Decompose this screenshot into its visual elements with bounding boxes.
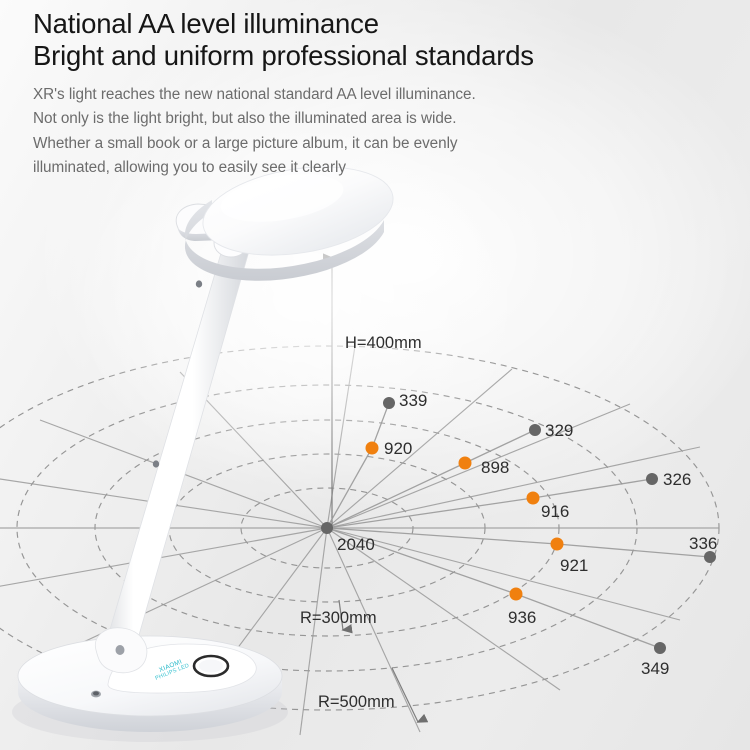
- data-label-336: 336: [689, 534, 717, 553]
- data-point-center[interactable]: [321, 522, 333, 534]
- annotation-radius300: R=300mm: [300, 609, 377, 627]
- data-point-920[interactable]: [366, 442, 379, 455]
- data-label-329: 329: [545, 421, 573, 440]
- body-line-1: XR's light reaches the new national stan…: [33, 83, 723, 107]
- data-point-339[interactable]: [383, 397, 395, 409]
- data-point-921[interactable]: [551, 538, 564, 551]
- data-label-326: 326: [663, 470, 691, 489]
- data-label-center: 2040: [337, 535, 375, 554]
- body-line-3: Whether a small book or a large picture …: [33, 132, 723, 156]
- data-point-916[interactable]: [527, 492, 540, 505]
- page-title-line2: Bright and uniform professional standard…: [33, 40, 723, 72]
- body-copy: XR's light reaches the new national stan…: [33, 83, 723, 180]
- data-label-920: 920: [384, 439, 412, 458]
- header-text-block: National AA level illuminance Bright and…: [33, 8, 723, 180]
- data-point-898[interactable]: [459, 457, 472, 470]
- data-label-898: 898: [481, 458, 509, 477]
- data-point-936[interactable]: [510, 588, 523, 601]
- annotation-height: H=400mm: [345, 334, 422, 352]
- data-label-921: 921: [560, 556, 588, 575]
- data-label-349: 349: [641, 659, 669, 678]
- data-point-349[interactable]: [654, 642, 666, 654]
- illuminance-infographic: National AA level illuminance Bright and…: [0, 0, 750, 750]
- data-point-326[interactable]: [646, 473, 658, 485]
- data-label-936: 936: [508, 608, 536, 627]
- page-title-line1: National AA level illuminance: [33, 8, 723, 40]
- annotation-radius500: R=500mm: [318, 693, 395, 711]
- data-label-339: 339: [399, 391, 427, 410]
- body-line-2: Not only is the light bright, but also t…: [33, 107, 723, 131]
- data-label-916: 916: [541, 502, 569, 521]
- body-line-4: illuminated, allowing you to easily see …: [33, 156, 723, 180]
- data-point-329[interactable]: [529, 424, 541, 436]
